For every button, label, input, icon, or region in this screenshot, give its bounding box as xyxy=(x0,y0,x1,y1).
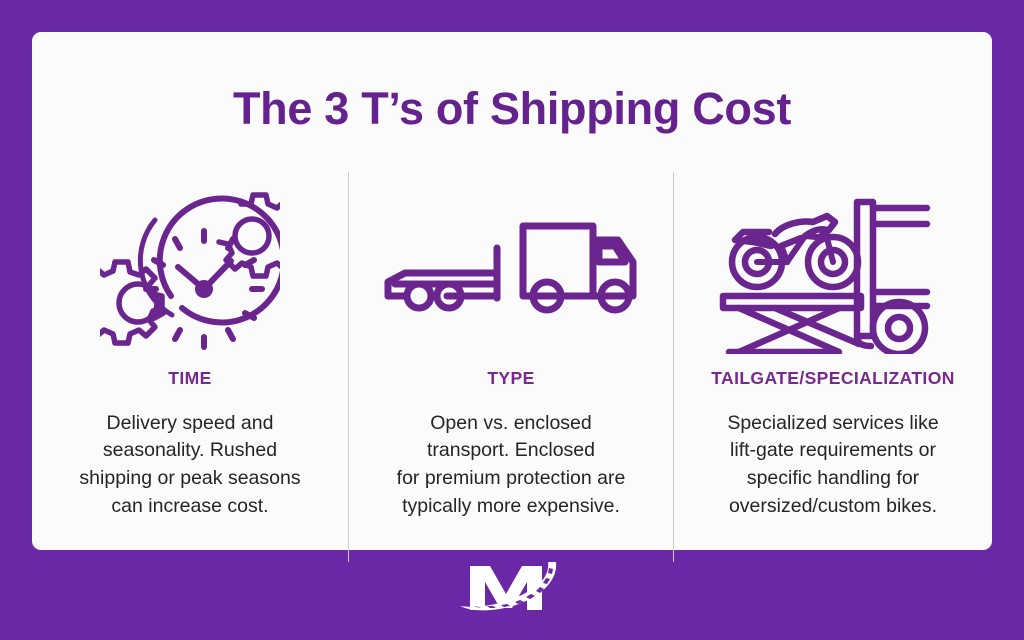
column-tailgate: TAILGATE/SPECIALIZATION Specialized serv… xyxy=(673,172,992,562)
column-description: Delivery speed and seasonality. Rushed s… xyxy=(73,410,306,521)
column-description: Specialized services like lift-gate requ… xyxy=(721,410,944,521)
description-line: Open vs. enclosed xyxy=(397,410,626,438)
footer-logo xyxy=(0,556,1024,618)
flatbed-trailer-box-truck-icon xyxy=(349,172,673,368)
description-line: Delivery speed and xyxy=(79,410,300,438)
page-title: The 3 T’s of Shipping Cost xyxy=(32,86,992,131)
column-label: TAILGATE/SPECIALIZATION xyxy=(711,370,955,388)
m-highway-logo xyxy=(454,556,570,618)
description-line: typically more expensive. xyxy=(397,493,626,521)
description-line: transport. Enclosed xyxy=(397,437,626,465)
column-label: TYPE xyxy=(487,370,534,388)
description-line: for premium protection are xyxy=(397,465,626,493)
column-description: Open vs. enclosed transport. Enclosed fo… xyxy=(391,410,632,521)
column-type: TYPE Open vs. enclosed transport. Enclos… xyxy=(348,172,673,562)
description-line: oversized/custom bikes. xyxy=(727,493,938,521)
column-time: TIME Delivery speed and seasonality. Rus… xyxy=(32,172,348,562)
description-line: lift-gate requirements or xyxy=(727,437,938,465)
description-line: can increase cost. xyxy=(79,493,300,521)
content-card: The 3 T’s of Shipping Cost xyxy=(32,32,992,550)
description-line: Specialized services like xyxy=(727,410,938,438)
motorcycle-lift-icon xyxy=(674,172,992,368)
description-line: shipping or peak seasons xyxy=(79,465,300,493)
description-line: specific handling for xyxy=(727,465,938,493)
infographic-page: The 3 T’s of Shipping Cost xyxy=(0,0,1024,640)
description-line: seasonality. Rushed xyxy=(79,437,300,465)
columns-container: TIME Delivery speed and seasonality. Rus… xyxy=(32,172,992,562)
clock-gears-icon xyxy=(32,172,348,368)
column-label: TIME xyxy=(168,370,211,388)
